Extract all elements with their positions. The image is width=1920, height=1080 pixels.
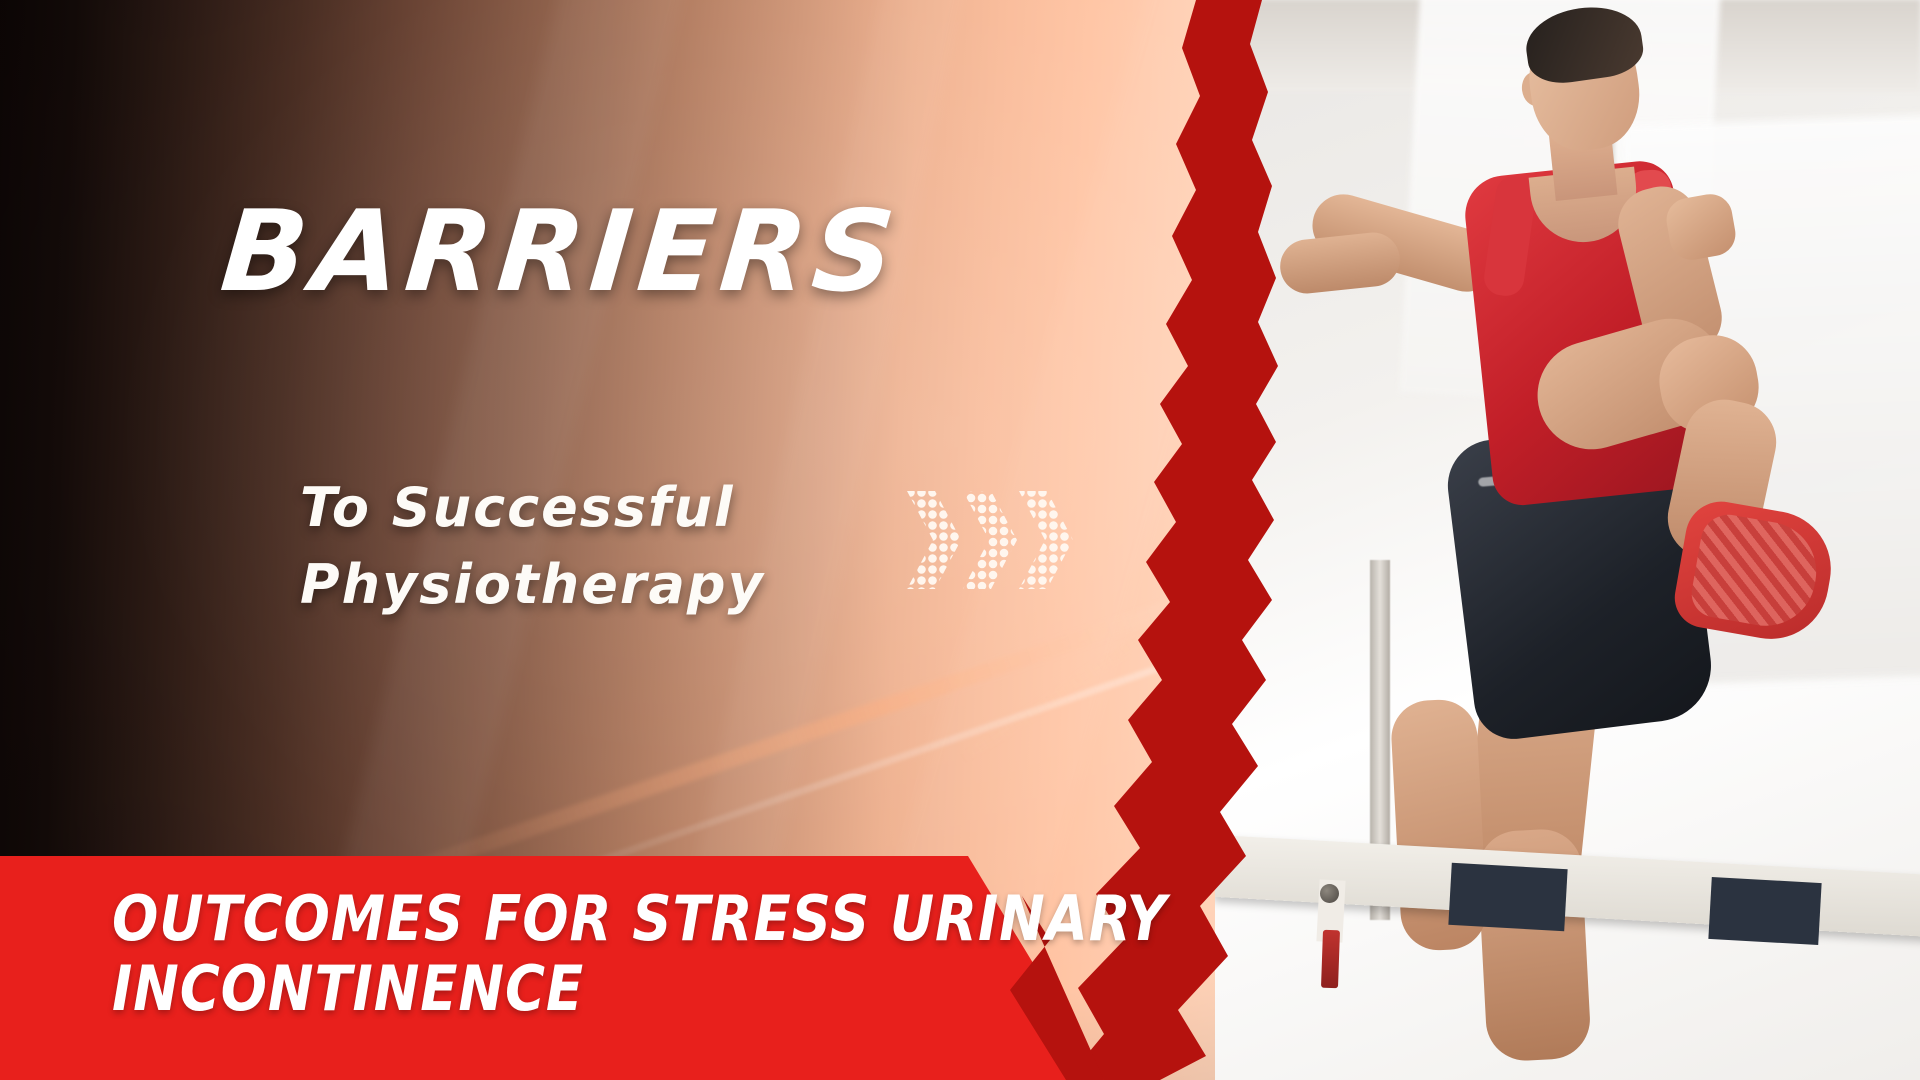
footer-line-1: OUTCOMES FOR STRESS URINARY — [112, 884, 992, 954]
chevron-3 — [1019, 491, 1073, 589]
athlete-left-forearm — [1278, 230, 1403, 296]
hurdle-height-peg — [1321, 930, 1340, 989]
footer-band-text: OUTCOMES FOR STRESS URINARY INCONTINENCE — [112, 884, 992, 1024]
hurdle-bolt — [1320, 884, 1339, 903]
chevron-2 — [963, 491, 1017, 589]
hurdle-stripe-2 — [1708, 877, 1821, 945]
hurdle-stripe-1 — [1448, 863, 1567, 931]
page-headline: BARRIERS — [217, 196, 947, 308]
chevron-1 — [907, 491, 961, 589]
footer-line-2: INCONTINENCE — [112, 954, 992, 1024]
chevron-arrows-icon — [905, 487, 1095, 593]
promo-banner: BARRIERS To Successful Physiotherapy OUT… — [0, 0, 1920, 1080]
